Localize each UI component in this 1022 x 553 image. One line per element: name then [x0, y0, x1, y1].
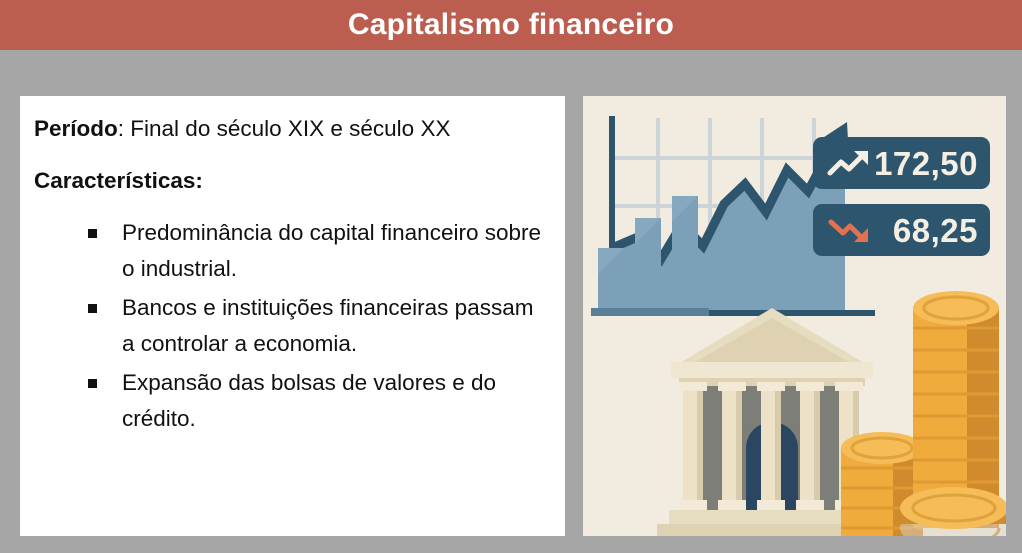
trend-down-arrow-icon: [827, 215, 873, 245]
square-bullet-icon: [88, 304, 97, 313]
period-value: Final do século XIX e século XX: [130, 116, 450, 141]
square-bullet-icon: [88, 379, 97, 388]
period-label: Período: [34, 116, 118, 141]
list-item-text: Expansão das bolsas de valores e do créd…: [86, 365, 551, 438]
trend-up-arrow-icon: [827, 148, 873, 178]
value-badge-down-text: 68,25: [893, 214, 978, 247]
content-card: Período: Final do século XIX e século XX…: [20, 96, 565, 536]
single-coin: [900, 487, 1006, 536]
value-badge-up[interactable]: 172,50: [813, 137, 990, 189]
list-item: Bancos e instituições financeiras passam…: [34, 290, 551, 363]
period-separator: :: [118, 116, 131, 141]
illustration-panel: 172,50 68,25: [583, 96, 1006, 536]
square-bullet-icon: [88, 229, 97, 238]
characteristics-list: Predominância do capital financeiro sobr…: [34, 215, 551, 438]
page-title: Capitalismo financeiro: [348, 8, 674, 42]
value-badge-up-text: 172,50: [874, 147, 978, 180]
period-line: Período: Final do século XIX e século XX: [34, 114, 551, 144]
list-item-text: Predominância do capital financeiro sobr…: [86, 215, 551, 288]
list-item-text: Bancos e instituições financeiras passam…: [86, 290, 551, 363]
list-item: Expansão das bolsas de valores e do créd…: [34, 365, 551, 438]
slide: Capitalismo financeiro Período: Final do…: [0, 0, 1022, 553]
list-item: Predominância do capital financeiro sobr…: [34, 215, 551, 288]
title-banner: Capitalismo financeiro: [0, 0, 1022, 50]
characteristics-label: Características:: [34, 166, 551, 196]
value-badge-down[interactable]: 68,25: [813, 204, 990, 256]
